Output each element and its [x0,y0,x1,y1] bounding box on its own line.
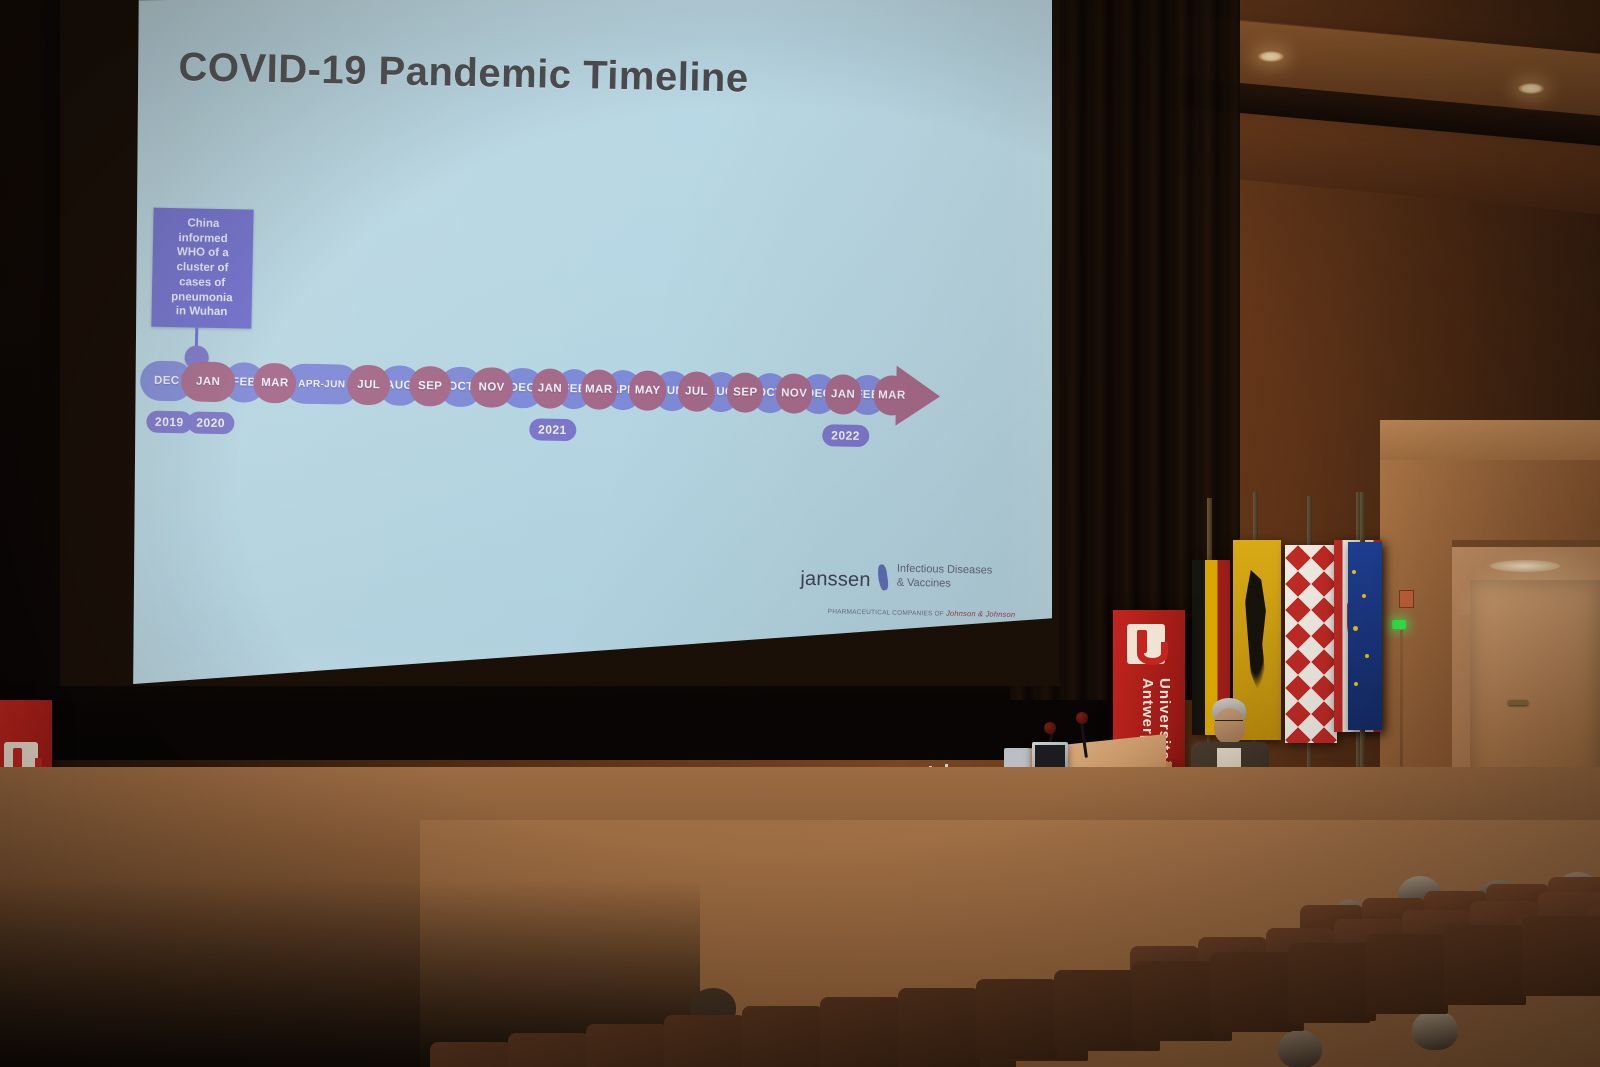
audience-seat[interactable] [742,1006,824,1067]
audience-seat[interactable] [1366,934,1448,1014]
audience-member [1278,1030,1322,1067]
audience-seat[interactable] [1288,943,1370,1023]
audience-seat[interactable] [1054,970,1136,1050]
audience-seat[interactable] [508,1033,590,1067]
audience-seat[interactable] [1522,916,1600,996]
audience-seat[interactable] [586,1024,668,1067]
audience-seat[interactable] [1444,925,1526,1005]
audience-seat[interactable] [820,997,902,1067]
audience-seat[interactable] [898,988,980,1067]
audience-member [1412,1010,1458,1050]
audience-seat[interactable] [976,979,1058,1059]
audience-seat[interactable] [1132,961,1214,1041]
audience-seat[interactable] [664,1015,746,1067]
audience-seat[interactable] [430,1042,512,1067]
audience-seat[interactable] [1210,952,1292,1032]
conference-hall-photo: COVID-19 Pandemic Timeline China informe… [0,0,1600,1067]
